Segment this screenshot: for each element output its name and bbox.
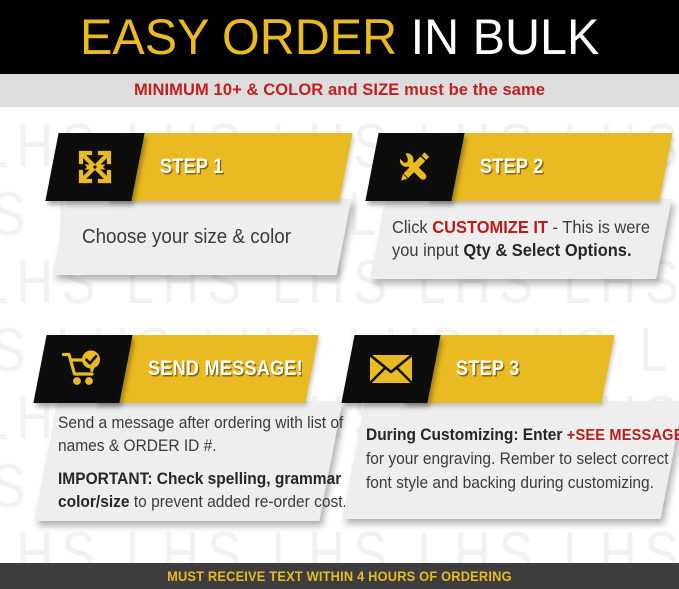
card-step2-banner: STEP 2 [427, 133, 672, 201]
body-text-segment: - This is were [548, 217, 650, 237]
body-text-segment: During Customizing: Enter [366, 426, 567, 444]
body-line: you input Qty & Select Options. [392, 239, 635, 262]
body-spacer [58, 459, 319, 468]
body-line: Click CUSTOMIZE IT - This is were [392, 216, 635, 239]
body-text-segment: names & ORDER ID #. [58, 437, 217, 455]
card-step3-icon-tile [341, 335, 440, 403]
body-text-segment: Send a message after ordering with list … [58, 414, 343, 432]
card-send-message-banner-label: SEND MESSAGE! [148, 357, 303, 381]
body-text-segment: CUSTOMIZE IT [432, 217, 548, 237]
body-text-segment: +SEE MESSAGE+ [567, 427, 679, 444]
body-line: names & ORDER ID #. [58, 435, 303, 458]
header-bar: EASY ORDER IN BULK [0, 0, 679, 74]
card-step1: STEP 1 [52, 133, 352, 275]
body-line: Send a message after ordering with list … [58, 412, 303, 435]
card-send-message-body-lines: Send a message after ordering with list … [46, 401, 331, 521]
body-text-segment: Click [392, 217, 432, 237]
card-step3-body-lines: During Customizing: Enter +SEE MESSAGE+f… [354, 401, 672, 519]
card-step2-header: STEP 2 [372, 133, 672, 201]
body-line: for your engraving. Rember to select cor… [366, 448, 642, 472]
card-step1-banner-label: STEP 1 [160, 155, 223, 179]
card-step3-body: During Customizing: Enter +SEE MESSAGE+f… [343, 401, 679, 519]
page-title-white: IN BULK [410, 9, 599, 65]
body-text-segment: IMPORTANT: Check spelling, grammar [58, 470, 341, 488]
card-send-message-icon-tile [33, 335, 132, 403]
body-line: During Customizing: Enter +SEE MESSAGE+ [366, 424, 642, 448]
promo-infographic: LHS LHS LHS LHS LHS LHS LHS LHSLHS LHS L… [0, 0, 679, 589]
card-step1-banner: STEP 1 [107, 133, 352, 201]
card-step3-banner-label: STEP 3 [456, 357, 519, 381]
body-text-segment: Choose your size & color [82, 226, 291, 248]
envelope-icon [368, 352, 414, 386]
card-step3: STEP 3 During Customizing: Enter +SEE [348, 335, 678, 519]
footer-bar: MUST RECEIVE TEXT WITHIN 4 HOURS OF ORDE… [0, 563, 679, 589]
card-step1-body: Choose your size & color [53, 199, 352, 275]
card-step3-header: STEP 3 [348, 335, 678, 403]
card-send-message-header: SEND MESSAGE! [40, 335, 340, 403]
card-step2-banner-label: STEP 2 [480, 155, 543, 179]
page-title-gold: EASY ORDER [80, 9, 397, 65]
body-text-segment: for your engraving. Rember to select cor… [366, 450, 669, 468]
expand-arrows-icon [75, 147, 115, 187]
card-step2-body-lines: Click CUSTOMIZE IT - This is wereyou inp… [378, 199, 664, 279]
card-step1-header: STEP 1 [52, 133, 352, 201]
subheader-bar: MINIMUM 10+ & COLOR and SIZE must be the… [0, 74, 679, 107]
body-text-segment: color/size [58, 493, 130, 511]
card-step2: STEP 2 [372, 133, 672, 279]
subheader-text: MINIMUM 10+ & COLOR and SIZE must be the… [134, 81, 545, 100]
page-title: EASY ORDER IN BULK [80, 12, 599, 62]
body-text-segment: to prevent added re-order cost. [130, 493, 347, 511]
card-step1-body-lines: Choose your size & color [60, 199, 344, 275]
body-line: IMPORTANT: Check spelling, grammar [58, 468, 303, 491]
card-send-message: SEND MESSAGE! [40, 335, 340, 521]
footer-text: MUST RECEIVE TEXT WITHIN 4 HOURS OF ORDE… [167, 569, 512, 584]
cart-check-icon [61, 349, 105, 389]
body-line: Choose your size & color [82, 224, 308, 250]
body-line: font style and backing during customizin… [366, 472, 642, 496]
wrench-pencil-icon [394, 146, 436, 188]
card-step1-icon-tile [45, 133, 144, 201]
body-text-segment: font style and backing during customizin… [366, 474, 654, 492]
card-step2-body: Click CUSTOMIZE IT - This is wereyou inp… [370, 199, 672, 279]
card-send-message-body: Send a message after ordering with list … [34, 401, 342, 521]
body-text-segment: Qty & Select Options. [463, 240, 631, 260]
body-text-segment: you input [392, 240, 463, 260]
card-step2-icon-tile [365, 133, 464, 201]
body-line: color/size to prevent added re-order cos… [58, 491, 303, 514]
